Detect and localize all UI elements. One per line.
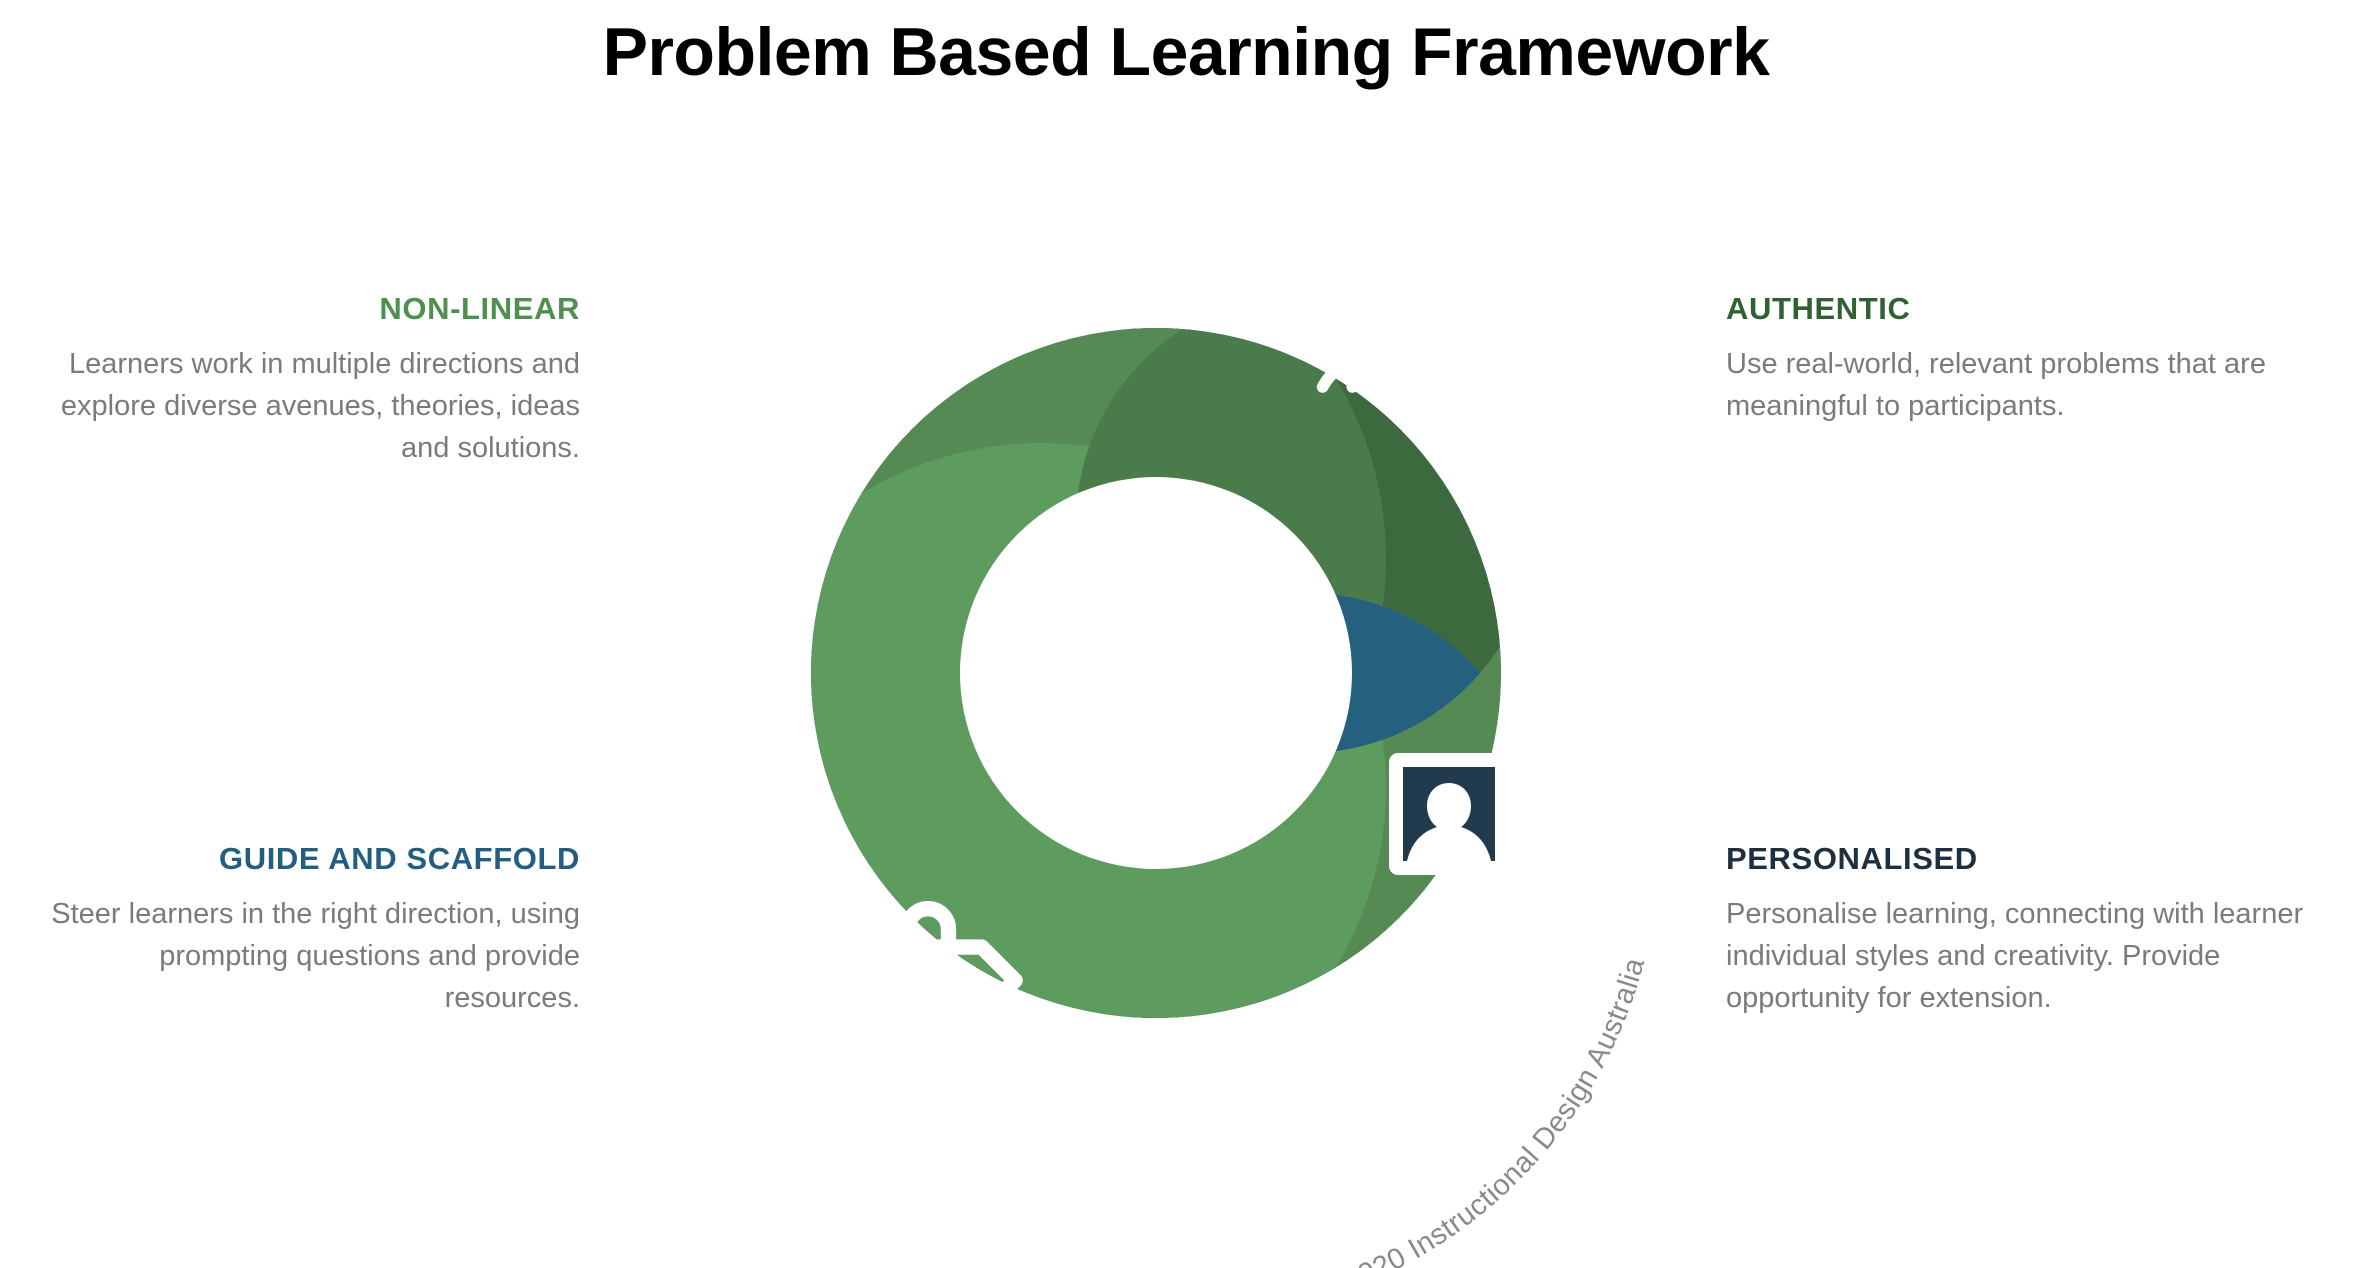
share-nodes-icon bbox=[763, 304, 901, 447]
pinwheel-graphic: © 2020 Instructional Design Australia bbox=[586, 108, 1736, 1268]
quadrant-authentic-heading: AUTHENTIC bbox=[1726, 292, 2336, 326]
page-title: Problem Based Learning Framework bbox=[0, 18, 2372, 86]
quadrant-personalised: PERSONALISED Personalise learning, conne… bbox=[1726, 842, 2336, 1019]
quadrant-personalised-heading: PERSONALISED bbox=[1726, 842, 2336, 876]
fingerprint-icon bbox=[1278, 176, 1407, 387]
quadrant-guide-and-scaffold-heading: GUIDE AND SCAFFOLD bbox=[40, 842, 580, 876]
quadrant-personalised-body: Personalise learning, connecting with le… bbox=[1726, 894, 2336, 1019]
framework-infographic: Problem Based Learning Framework NON-LIN… bbox=[0, 0, 2372, 1268]
copyright-text: © 2020 Instructional Design Australia bbox=[1311, 954, 1651, 1268]
quadrant-nonlinear: NON-LINEAR Learners work in multiple dir… bbox=[40, 292, 580, 469]
quadrant-guide-and-scaffold-body: Steer learners in the right direction, u… bbox=[40, 894, 580, 1019]
quadrant-guide-and-scaffold: GUIDE AND SCAFFOLD Steer learners in the… bbox=[40, 842, 580, 1019]
quadrant-authentic: AUTHENTIC Use real-world, relevant probl… bbox=[1726, 292, 2336, 428]
quadrant-nonlinear-heading: NON-LINEAR bbox=[40, 292, 580, 326]
quadrant-nonlinear-body: Learners work in multiple directions and… bbox=[40, 344, 580, 469]
center-hole bbox=[960, 477, 1352, 869]
person-portrait-icon bbox=[1389, 753, 1509, 875]
quadrant-authentic-body: Use real-world, relevant problems that a… bbox=[1726, 344, 2336, 428]
